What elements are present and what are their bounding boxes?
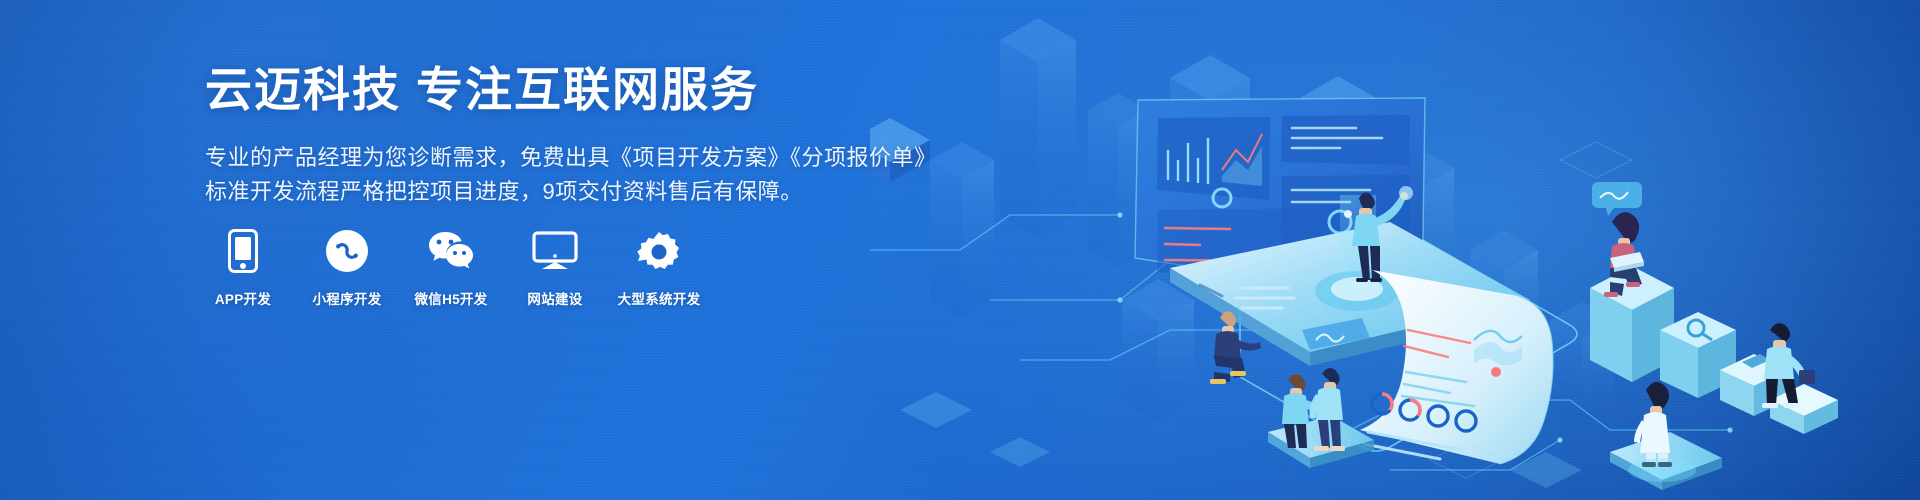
wechat-icon [427,228,475,274]
monitor-icon [532,228,578,274]
people-pair [1268,368,1374,468]
hero-banner: 云迈科技 专注互联网服务 专业的产品经理为您诊断需求，免费出具《项目开发方案》《… [0,0,1920,500]
page-title: 云迈科技 专注互联网服务 [205,62,905,117]
service-item-large-system[interactable]: 大型系统开发 [621,228,697,308]
service-item-wechat-h5[interactable]: 微信H5开发 [413,228,489,308]
service-label: 网站建设 [527,288,582,308]
service-item-app[interactable]: APP开发 [205,228,281,308]
service-label: 大型系统开发 [618,288,701,308]
service-list: APP开发 小程序开发 [205,228,697,308]
service-item-miniprogram[interactable]: 小程序开发 [309,228,385,308]
banner-copy: 云迈科技 专注互联网服务 专业的产品经理为您诊断需求，免费出具《项目开发方案》《… [205,62,905,209]
subtitle-group: 专业的产品经理为您诊断需求，免费出具《项目开发方案》《分项报价单》 标准开发流程… [205,141,905,209]
service-label: APP开发 [215,288,271,308]
person-on-tablet [1610,382,1722,490]
mobile-phone-icon [228,228,258,274]
isometric-tech-illustration [870,0,1920,500]
subtitle-line-1: 专业的产品经理为您诊断需求，免费出具《项目开发方案》《分项报价单》 [205,141,905,175]
service-label: 小程序开发 [313,288,382,308]
chat-bubble [1592,182,1642,216]
mini-program-icon [325,228,369,274]
subtitle-line-2: 标准开发流程严格把控项目进度，9项交付资料售后有保障。 [205,175,905,209]
steps-cluster [1590,182,1838,434]
service-label: 微信H5开发 [414,288,487,308]
service-item-website[interactable]: 网站建设 [517,228,593,308]
gear-icon [637,228,681,274]
